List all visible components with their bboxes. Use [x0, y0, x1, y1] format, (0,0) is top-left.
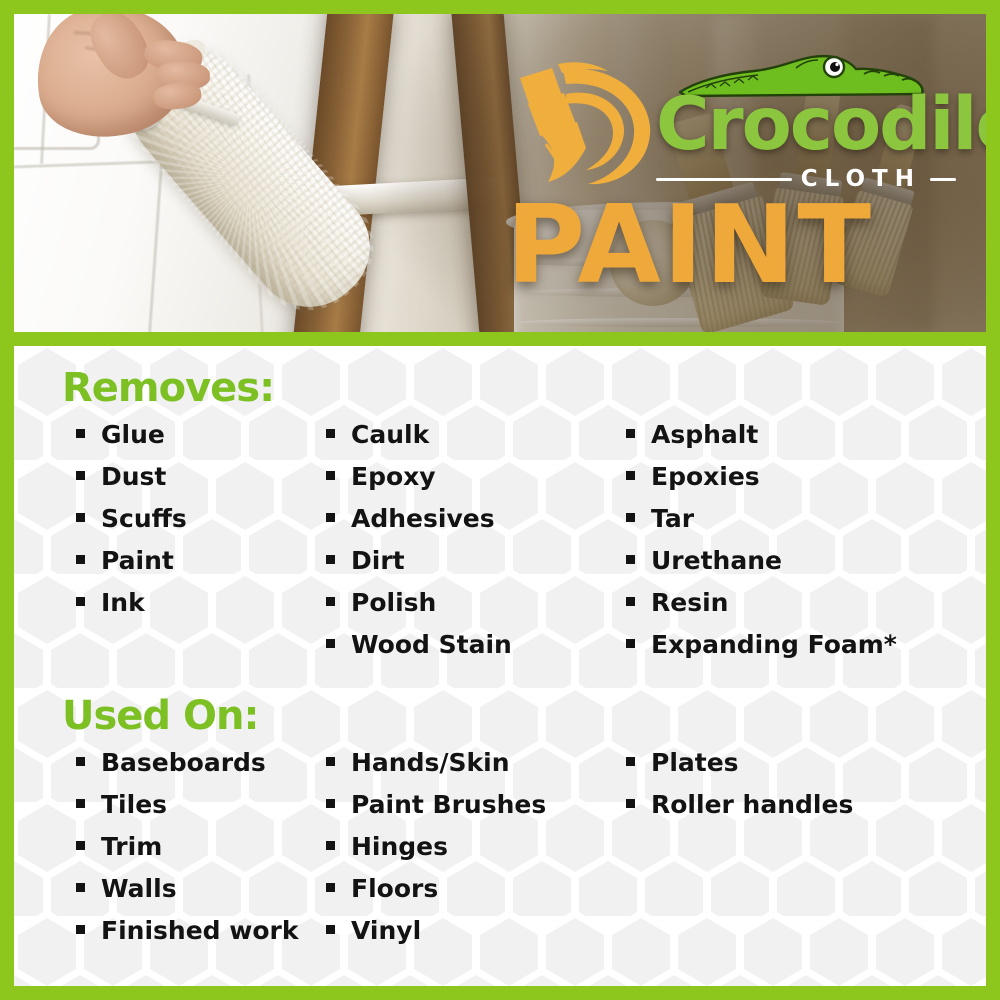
square-bullet-icon [326, 555, 335, 564]
section-title-removes: Removes: [62, 368, 986, 408]
list-item: Dirt [326, 548, 626, 573]
list-item-label: Dirt [351, 548, 405, 573]
list-item: Tiles [76, 792, 326, 817]
square-bullet-icon [76, 555, 85, 564]
square-bullet-icon [326, 639, 335, 648]
features-panel: Removes: Glue Dust Scuffs Paint Ink [14, 346, 986, 986]
list-item-label: Floors [351, 876, 438, 901]
list-item-label: Tar [651, 506, 694, 531]
list-item-label: Wood Stain [351, 632, 512, 657]
section-removes: Removes: Glue Dust Scuffs Paint Ink [14, 368, 986, 674]
list-item-label: Paint Brushes [351, 792, 546, 817]
list-item-label: Hinges [351, 834, 448, 859]
square-bullet-icon [326, 925, 335, 934]
square-bullet-icon [626, 639, 635, 648]
square-bullet-icon [76, 757, 85, 766]
list-item: Epoxy [326, 464, 626, 489]
square-bullet-icon [626, 597, 635, 606]
list-item-label: Scuffs [101, 506, 187, 531]
square-bullet-icon [76, 513, 85, 522]
used-on-list-3: Plates Roller handles [626, 750, 926, 817]
square-bullet-icon [326, 799, 335, 808]
square-bullet-icon [76, 597, 85, 606]
list-item: Baseboards [76, 750, 326, 775]
square-bullet-icon [326, 841, 335, 850]
list-item-label: Plates [651, 750, 739, 775]
square-bullet-icon [626, 555, 635, 564]
list-item: Caulk [326, 422, 626, 447]
used-on-column-2: Hands/Skin Paint Brushes Hinges Floors V… [326, 750, 626, 960]
paintbrush-swoosh-icon [500, 60, 660, 190]
list-item-label: Walls [101, 876, 177, 901]
list-item: Urethane [626, 548, 926, 573]
list-item-label: Vinyl [351, 918, 421, 943]
used-on-column-3: Plates Roller handles [626, 750, 926, 960]
square-bullet-icon [76, 799, 85, 808]
list-item: Wood Stain [326, 632, 626, 657]
square-bullet-icon [326, 883, 335, 892]
list-item: Walls [76, 876, 326, 901]
removes-column-1: Glue Dust Scuffs Paint Ink [14, 422, 326, 674]
used-on-column-1: Baseboards Tiles Trim Walls Finished wor… [14, 750, 326, 960]
square-bullet-icon [326, 757, 335, 766]
removes-list-3: Asphalt Epoxies Tar Urethane Resin Expan… [626, 422, 926, 657]
square-bullet-icon [626, 513, 635, 522]
brand-name: Crocodile® [656, 90, 986, 160]
square-bullet-icon [76, 429, 85, 438]
square-bullet-icon [626, 799, 635, 808]
square-bullet-icon [626, 757, 635, 766]
list-item-label: Epoxies [651, 464, 760, 489]
list-item: Hinges [326, 834, 626, 859]
list-item: Tar [626, 506, 926, 531]
list-item-label: Ink [101, 590, 145, 615]
square-bullet-icon [626, 471, 635, 480]
list-item: Paint [76, 548, 326, 573]
list-item-label: Resin [651, 590, 728, 615]
list-item-label: Glue [101, 422, 165, 447]
list-item: Dust [76, 464, 326, 489]
list-item: Hands/Skin [326, 750, 626, 775]
square-bullet-icon [326, 429, 335, 438]
brand-logo: Crocodile® CLOTH [500, 54, 972, 194]
list-item: Polish [326, 590, 626, 615]
removes-column-2: Caulk Epoxy Adhesives Dirt Polish Wood S… [326, 422, 626, 674]
list-item-label: Paint [101, 548, 174, 573]
removes-columns: Glue Dust Scuffs Paint Ink Caulk Epoxy A… [14, 422, 986, 674]
brand-name-text: Crocodile [656, 82, 986, 167]
list-item: Plates [626, 750, 926, 775]
section-used-on: Used On: Baseboards Tiles Trim Walls Fin… [14, 696, 986, 960]
removes-list-1: Glue Dust Scuffs Paint Ink [76, 422, 326, 615]
square-bullet-icon [76, 925, 85, 934]
used-on-list-1: Baseboards Tiles Trim Walls Finished wor… [76, 750, 326, 943]
list-item: Paint Brushes [326, 792, 626, 817]
list-item-label: Baseboards [101, 750, 266, 775]
square-bullet-icon [76, 883, 85, 892]
list-item: Glue [76, 422, 326, 447]
list-item: Roller handles [626, 792, 926, 817]
square-bullet-icon [626, 429, 635, 438]
list-item-label: Urethane [651, 548, 782, 573]
list-item-label: Asphalt [651, 422, 758, 447]
list-item: Trim [76, 834, 326, 859]
list-item-label: Polish [351, 590, 436, 615]
list-item: Epoxies [626, 464, 926, 489]
cloth-rule-left [656, 178, 792, 181]
list-item: Asphalt [626, 422, 926, 447]
list-item-label: Adhesives [351, 506, 495, 531]
list-item-label: Epoxy [351, 464, 436, 489]
product-infographic-card: Crocodile® CLOTH PAINT [0, 0, 1000, 1000]
green-divider [14, 332, 986, 346]
list-item-label: Dust [101, 464, 166, 489]
cloth-rule-right [930, 178, 956, 181]
hero-photo-banner: Crocodile® CLOTH PAINT [14, 14, 986, 332]
list-item: Resin [626, 590, 926, 615]
list-item-label: Expanding Foam* [651, 632, 897, 657]
list-item-label: Caulk [351, 422, 429, 447]
square-bullet-icon [326, 471, 335, 480]
used-on-list-2: Hands/Skin Paint Brushes Hinges Floors V… [326, 750, 626, 943]
section-title-used-on: Used On: [62, 696, 986, 736]
list-item: Scuffs [76, 506, 326, 531]
list-item: Floors [326, 876, 626, 901]
list-item: Expanding Foam* [626, 632, 926, 657]
removes-list-2: Caulk Epoxy Adhesives Dirt Polish Wood S… [326, 422, 626, 657]
square-bullet-icon [76, 471, 85, 480]
list-item-label: Tiles [101, 792, 167, 817]
square-bullet-icon [76, 841, 85, 850]
removes-column-3: Asphalt Epoxies Tar Urethane Resin Expan… [626, 422, 926, 674]
list-item: Adhesives [326, 506, 626, 531]
square-bullet-icon [326, 513, 335, 522]
list-item-label: Hands/Skin [351, 750, 510, 775]
product-category-title: PAINT [506, 192, 873, 300]
list-item-label: Finished work [101, 918, 298, 943]
list-item: Ink [76, 590, 326, 615]
list-item-label: Roller handles [651, 792, 853, 817]
list-item: Finished work [76, 918, 326, 943]
list-item: Vinyl [326, 918, 626, 943]
square-bullet-icon [326, 597, 335, 606]
used-on-columns: Baseboards Tiles Trim Walls Finished wor… [14, 750, 986, 960]
list-item-label: Trim [101, 834, 162, 859]
